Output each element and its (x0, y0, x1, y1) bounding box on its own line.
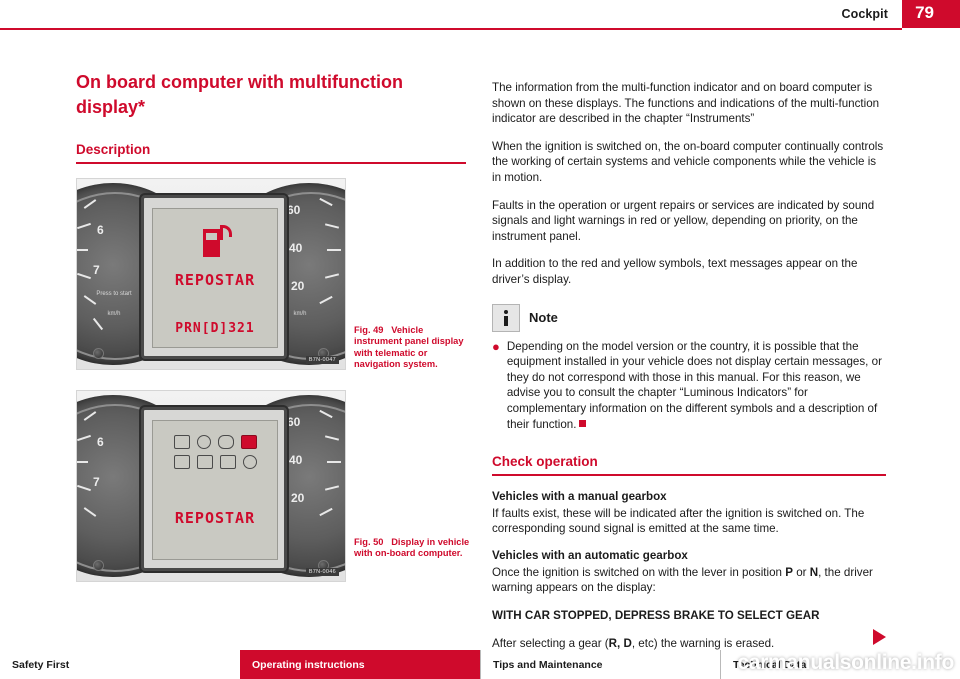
header-divider (0, 28, 902, 30)
site-watermark: carmanualsonline.info (737, 651, 954, 675)
display-warning-message: WITH CAR STOPPED, DEPRESS BRAKE TO SELEC… (492, 608, 886, 624)
chapter-title: Cockpit (841, 7, 888, 21)
paragraph-automatic-gearbox: Once the ignition is switched on with th… (492, 565, 886, 596)
onboard-computer-display-panel: REPOSTAR (141, 407, 287, 571)
footer-tab-tips-and-maintenance[interactable]: Tips and Maintenance (480, 650, 720, 679)
figure-50-number: Fig. 50 (354, 537, 383, 547)
cluster-screw (93, 560, 104, 571)
continue-arrow-icon (873, 629, 886, 645)
note-bullet-text: Depending on the model version or the co… (507, 339, 886, 433)
figure-50-caption: Fig. 50 Display in vehicle with on-board… (354, 537, 472, 560)
dial-number: 40 (289, 241, 302, 255)
oval-icon (218, 435, 234, 449)
info-icon (492, 304, 520, 332)
page-title: On board computer with multifunction dis… (76, 70, 466, 120)
page-header: Cockpit 79 (0, 0, 960, 28)
dial-tick (327, 249, 341, 251)
circle-icon (197, 435, 211, 449)
section-divider (492, 474, 886, 476)
lcd-gear-indicator: PRN[D]321 (153, 321, 277, 336)
dial-number: 60 (287, 203, 300, 217)
warning-icon-row-top (153, 435, 277, 449)
lcd-screen: REPOSTAR (152, 420, 278, 560)
note-header: Note (492, 304, 886, 332)
dial-tick (327, 461, 341, 463)
lcd-screen: REPOSTAR PRN[D]321 (152, 208, 278, 348)
footer-tab-safety-first[interactable]: Safety First (0, 650, 240, 679)
dial-number: 6 (97, 435, 104, 449)
bullet-icon: ● (492, 339, 500, 433)
subheading-manual-gearbox: Vehicles with a manual gearbox (492, 490, 886, 503)
instrument-cluster-image-50: 6 7 60 40 20 (77, 391, 345, 581)
lamp-icon (174, 455, 190, 469)
lcd-message: REPOSTAR (153, 271, 277, 289)
dial-small-label: Press to start (91, 291, 137, 297)
section-end-marker (579, 420, 586, 427)
dial-number: 20 (291, 279, 304, 293)
figure-badge: B7N-0047 (306, 356, 339, 364)
dial-number: 6 (97, 223, 104, 237)
note-bullet: ● Depending on the model version or the … (492, 339, 886, 433)
paragraph-gear-selected: After selecting a gear (R, D, etc) the w… (492, 636, 886, 652)
sun-icon (243, 455, 257, 469)
dial-number: 60 (287, 415, 300, 429)
lcd-message: REPOSTAR (153, 509, 277, 527)
fuel-pump-icon (203, 225, 229, 257)
dial-number: 20 (291, 491, 304, 505)
gear-icon (220, 455, 236, 469)
multifunction-display-panel: REPOSTAR PRN[D]321 (141, 195, 287, 359)
paragraph-text-messages: In addition to the red and yellow symbol… (492, 256, 886, 287)
left-column: On board computer with multifunction dis… (76, 70, 466, 582)
dial-small-label: km/h (91, 311, 137, 317)
dial-tick (77, 461, 88, 463)
figure-50: 6 7 60 40 20 (76, 390, 346, 582)
instrument-cluster-image-49: 6 7 Press to start km/h 60 40 20 km/h (77, 179, 345, 369)
dial-number: 40 (289, 453, 302, 467)
dial-tick (77, 249, 88, 251)
note-title: Note (529, 310, 558, 325)
figure-badge: B7N-0046 (306, 568, 339, 576)
dial-number: 7 (93, 263, 100, 277)
paragraph-intro: The information from the multi-function … (492, 80, 886, 127)
paragraph-faults: Faults in the operation or urgent repair… (492, 198, 886, 245)
note-box: Note ● Depending on the model version or… (492, 304, 886, 433)
footer-tab-operating-instructions[interactable]: Operating instructions (240, 650, 480, 679)
subheading-automatic-gearbox: Vehicles with an automatic gearbox (492, 549, 886, 562)
page-number: 79 (915, 3, 934, 23)
figure-49: 6 7 Press to start km/h 60 40 20 km/h (76, 178, 346, 370)
coolant-icon (174, 435, 190, 449)
warning-icon-row-bottom (153, 455, 277, 469)
cluster-screw (93, 348, 104, 359)
right-column: The information from the multi-function … (492, 80, 886, 663)
section-divider (76, 162, 466, 164)
filter-icon (197, 455, 213, 469)
dial-number: 7 (93, 475, 100, 489)
warning-icon (241, 435, 257, 449)
paragraph-ignition: When the ignition is switched on, the on… (492, 139, 886, 186)
figure-49-caption: Fig. 49 Vehicle instrument panel display… (354, 325, 472, 371)
section-heading-check-operation: Check operation (492, 454, 886, 469)
paragraph-manual-gearbox: If faults exist, these will be indicated… (492, 506, 886, 537)
figure-49-number: Fig. 49 (354, 325, 383, 335)
section-heading-description: Description (76, 142, 466, 157)
